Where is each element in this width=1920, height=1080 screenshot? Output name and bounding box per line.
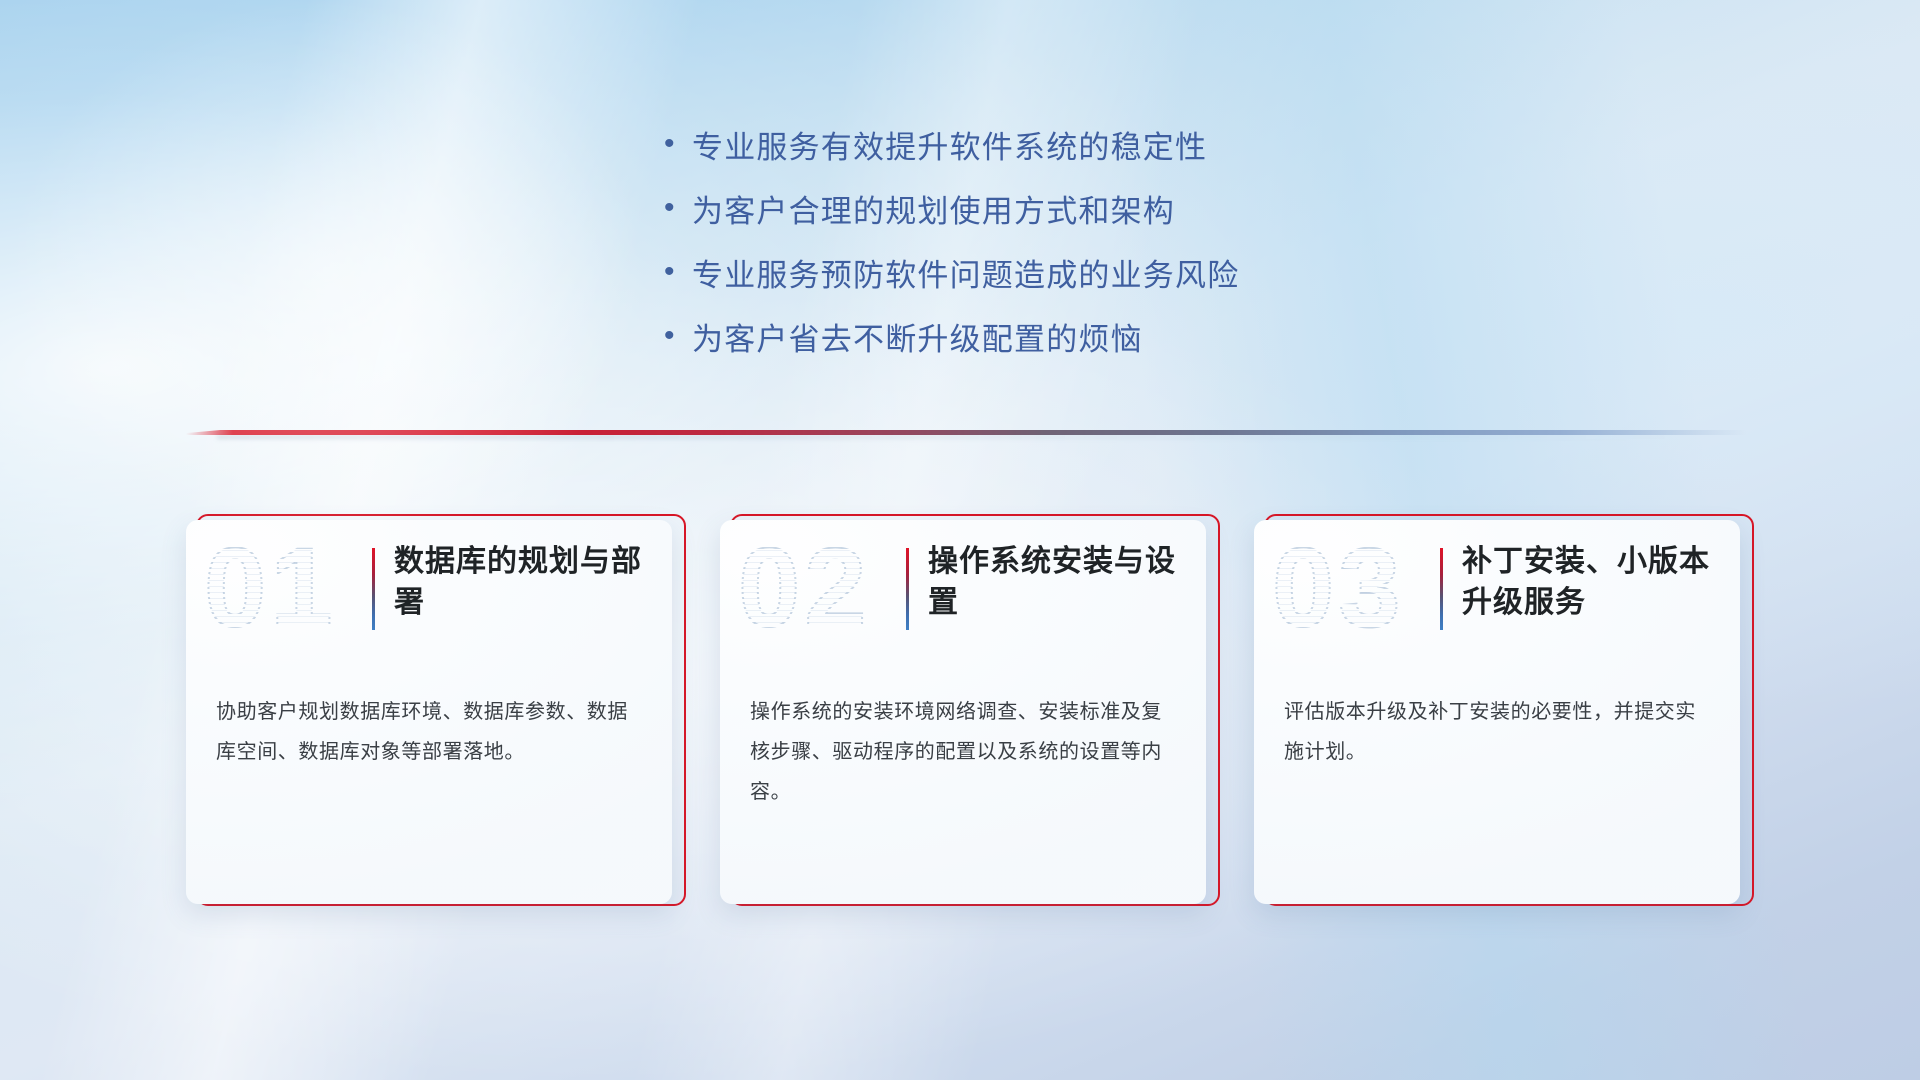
bullet-dot-icon: • xyxy=(660,193,692,223)
bullet-text: 为客户合理的规划使用方式和架构 xyxy=(692,186,1175,231)
card-number-watermark: 01 xyxy=(204,532,337,644)
title-accent-bar xyxy=(1440,548,1443,630)
service-card[interactable]: 01 01 数据库的规划与部署 协助客户规划数据库环境、数据库参数、数据库空间、… xyxy=(186,520,678,912)
bullet-dot-icon: • xyxy=(660,321,692,351)
list-item: • 为客户合理的规划使用方式和架构 xyxy=(660,176,1480,240)
slide-canvas: • 专业服务有效提升软件系统的稳定性 • 为客户合理的规划使用方式和架构 • 专… xyxy=(0,0,1920,1080)
card-title: 补丁安装、小版本升级服务 xyxy=(1462,542,1712,624)
service-card[interactable]: 02 02 操作系统安装与设置 操作系统的安装环境网络调查、安装标准及复核步骤、… xyxy=(720,520,1212,912)
card-description: 操作系统的安装环境网络调查、安装标准及复核步骤、驱动程序的配置以及系统的设置等内… xyxy=(750,692,1176,812)
section-divider xyxy=(186,428,1746,438)
bullet-text: 为客户省去不断升级配置的烦恼 xyxy=(692,314,1143,359)
bullet-text: 专业服务有效提升软件系统的稳定性 xyxy=(692,122,1207,167)
list-item: • 为客户省去不断升级配置的烦恼 xyxy=(660,304,1480,368)
card-description: 协助客户规划数据库环境、数据库参数、数据库空间、数据库对象等部署落地。 xyxy=(216,692,642,772)
card-description: 评估版本升级及补丁安装的必要性，并提交实施计划。 xyxy=(1284,692,1710,772)
service-card[interactable]: 03 03 补丁安装、小版本升级服务 评估版本升级及补丁安装的必要性，并提交实施… xyxy=(1254,520,1746,912)
title-accent-bar xyxy=(906,548,909,630)
card-body: 02 02 操作系统安装与设置 操作系统的安装环境网络调查、安装标准及复核步骤、… xyxy=(720,520,1206,904)
bullet-dot-icon: • xyxy=(660,257,692,287)
card-body: 01 01 数据库的规划与部署 协助客户规划数据库环境、数据库参数、数据库空间、… xyxy=(186,520,672,904)
list-item: • 专业服务有效提升软件系统的稳定性 xyxy=(660,112,1480,176)
bullet-text: 专业服务预防软件问题造成的业务风险 xyxy=(692,250,1239,295)
list-item: • 专业服务预防软件问题造成的业务风险 xyxy=(660,240,1480,304)
divider-line xyxy=(186,430,1746,435)
card-title: 数据库的规划与部署 xyxy=(394,542,644,624)
card-title: 操作系统安装与设置 xyxy=(928,542,1178,624)
card-number-watermark: 02 xyxy=(738,532,871,644)
card-number-watermark: 03 xyxy=(1272,532,1405,644)
divider-shadow xyxy=(217,435,1683,439)
service-card-group: 01 01 数据库的规划与部署 协助客户规划数据库环境、数据库参数、数据库空间、… xyxy=(186,520,1746,920)
card-body: 03 03 补丁安装、小版本升级服务 评估版本升级及补丁安装的必要性，并提交实施… xyxy=(1254,520,1740,904)
bullet-dot-icon: • xyxy=(660,129,692,159)
title-accent-bar xyxy=(372,548,375,630)
benefits-bullet-list: • 专业服务有效提升软件系统的稳定性 • 为客户合理的规划使用方式和架构 • 专… xyxy=(660,112,1480,368)
